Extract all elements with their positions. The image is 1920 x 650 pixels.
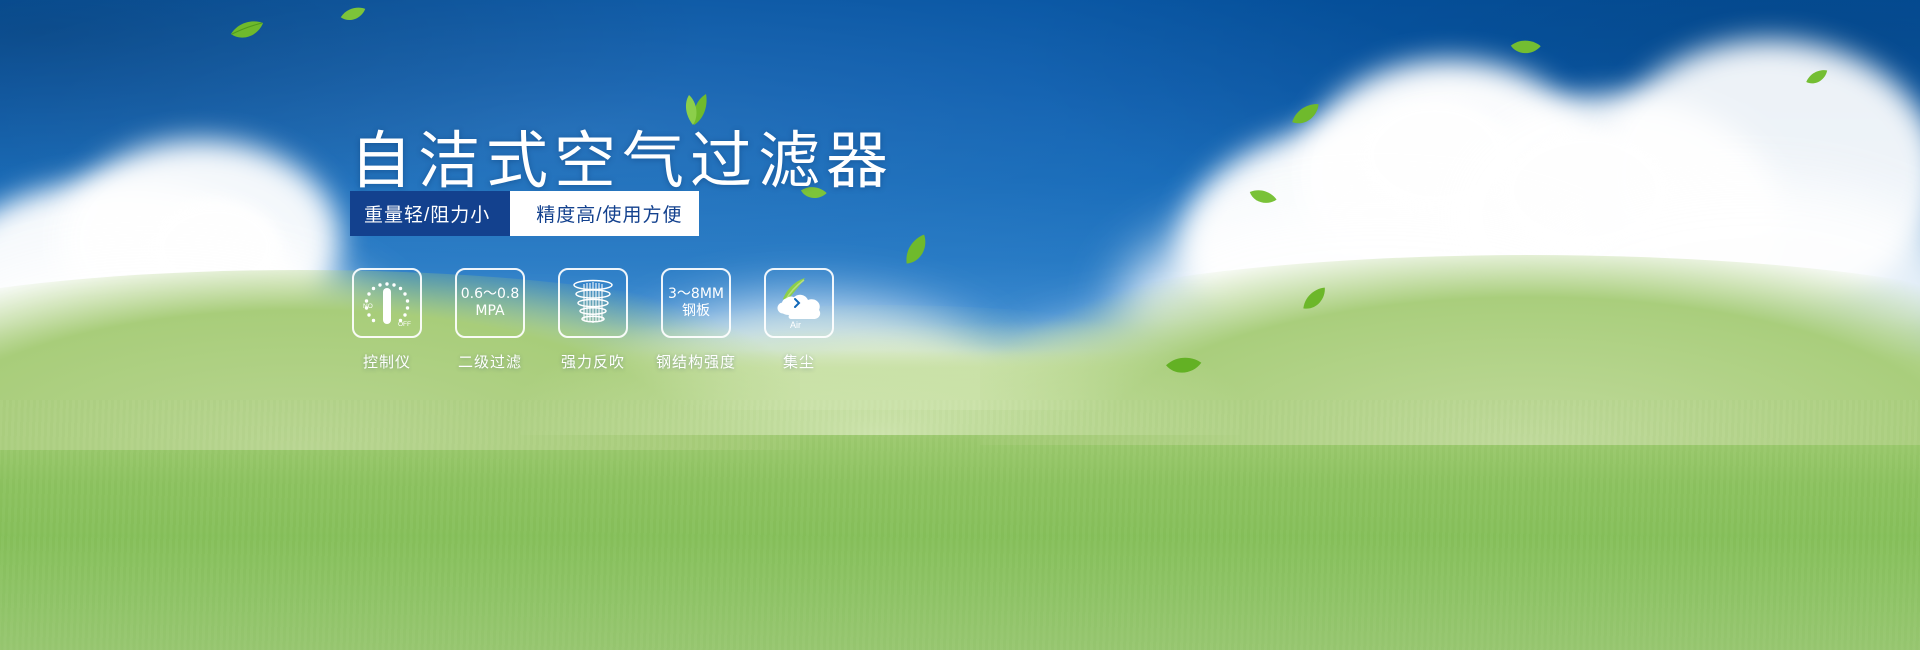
feature-icon-row: NO OFF 控制仪 0.6～0.8 MPA 二级过滤 xyxy=(352,268,834,372)
feature-caption: 集尘 xyxy=(783,351,815,372)
title-leaf-icon xyxy=(672,92,718,126)
steel-thickness: 3～8MM xyxy=(668,286,724,303)
feature-icon-box xyxy=(558,268,628,338)
pressure-range: 0.6～0.8 xyxy=(461,286,520,303)
feature-item[interactable]: 0.6～0.8 MPA 二级过滤 xyxy=(455,268,525,372)
tagline-bar: 重量轻/阻力小 精度高/使用方便 xyxy=(350,191,699,236)
feature-item[interactable]: 3～8MM 钢板 钢结构强度 xyxy=(661,268,731,372)
steel-plate-icon: 3～8MM 钢板 xyxy=(668,286,724,320)
feature-icon-box: Air xyxy=(764,268,834,338)
tagline-right: 精度高/使用方便 xyxy=(510,191,698,236)
svg-text:NO: NO xyxy=(363,303,373,310)
air-cloud-icon: Air xyxy=(769,275,829,331)
feature-caption: 二级过滤 xyxy=(458,351,522,372)
page-title: 自洁式空气过滤器 xyxy=(350,110,894,200)
feature-caption: 钢结构强度 xyxy=(656,351,736,372)
pressure-value-icon: 0.6～0.8 MPA xyxy=(461,286,520,320)
steel-material: 钢板 xyxy=(668,303,724,320)
tagline-left: 重量轻/阻力小 xyxy=(350,191,510,236)
feature-caption: 强力反吹 xyxy=(561,351,625,372)
feature-icon-box: NO OFF xyxy=(352,268,422,338)
product-banner: 自洁式空气过滤器 重量轻/阻力小 精度高/使用方便 xyxy=(0,0,1920,650)
svg-text:OFF: OFF xyxy=(398,321,411,328)
feature-item[interactable]: Air 集尘 xyxy=(764,268,834,372)
feature-item[interactable]: NO OFF 控制仪 xyxy=(352,268,422,372)
feature-caption: 控制仪 xyxy=(363,351,411,372)
control-dial-icon: NO OFF xyxy=(358,275,416,331)
feature-icon-box: 3～8MM 钢板 xyxy=(661,268,731,338)
filter-cartridge-icon xyxy=(569,277,617,329)
feature-item[interactable]: 强力反吹 xyxy=(558,268,628,372)
pressure-unit: MPA xyxy=(461,303,520,320)
air-label: Air xyxy=(790,320,801,330)
feature-icon-box: 0.6～0.8 MPA xyxy=(455,268,525,338)
